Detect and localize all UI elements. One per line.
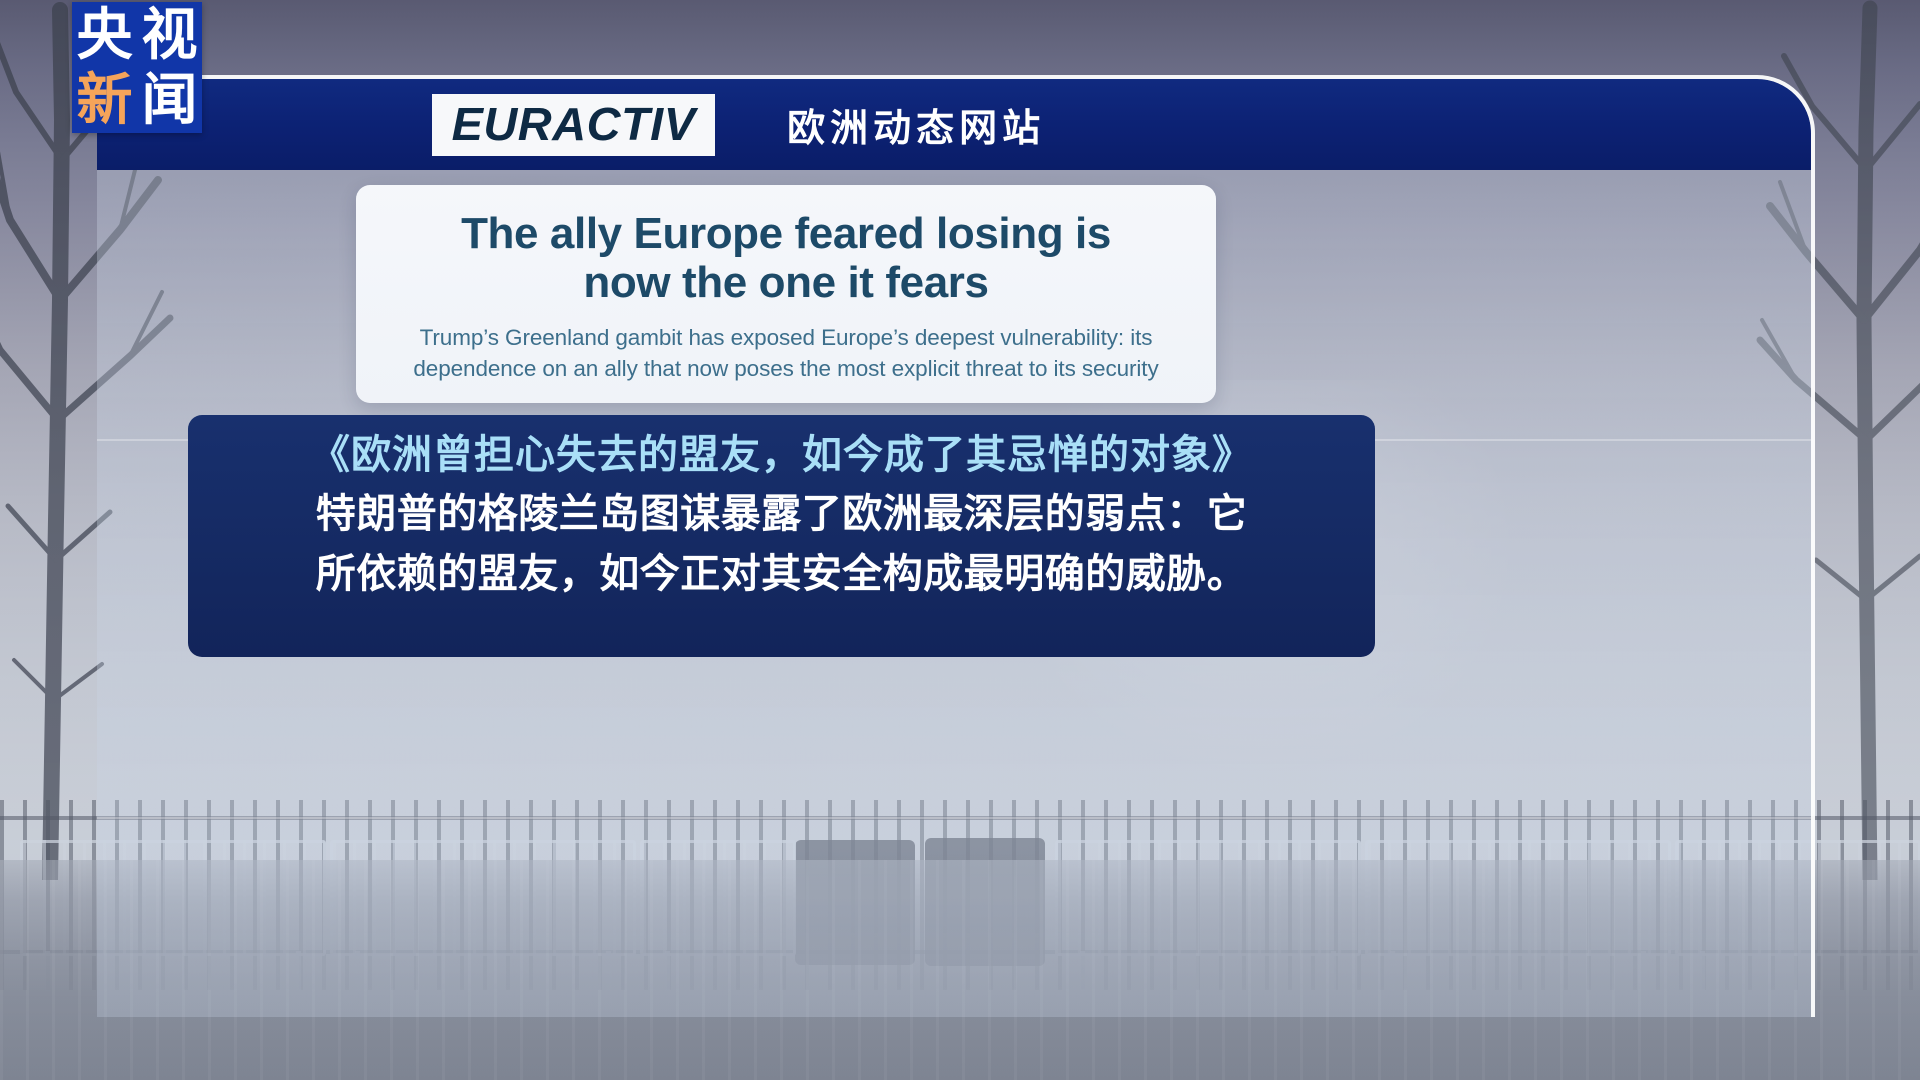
article-card-wrapper: The ally Europe feared losing is now the… [356,185,1216,403]
article-subtitle-line-1: Trump’s Greenland gambit has exposed Eur… [382,322,1190,354]
source-label-chinese: 欧洲动态网站 [787,97,1045,152]
translation-title: 《欧洲曾担心失去的盟友，如今成了其忌惮的对象》 [216,427,1347,484]
euractiv-logo-text: EURACTIV [452,101,696,147]
cctv-news-logo: 央 视 新 闻 [72,2,202,133]
article-headline-line-1: The ally Europe feared losing is [382,209,1190,258]
panel-header-bar: EURACTIV 欧洲动态网站 [97,79,1811,170]
screenshot-root: EURACTIV 欧洲动态网站 The ally Europe feared l… [0,0,1920,1080]
translation-body-line-2: 所依赖的盟友，如今正对其安全构成最明确的威胁。 [216,544,1347,604]
article-subtitle: Trump’s Greenland gambit has exposed Eur… [382,322,1190,386]
article-headline-line-2: now the one it fears [382,258,1190,307]
translation-card: 《欧洲曾担心失去的盟友，如今成了其忌惮的对象》 特朗普的格陵兰岛图谋暴露了欧洲最… [188,415,1375,657]
cctv-logo-char-xin: 新 [77,72,133,128]
panel-seam-lower [97,817,1811,819]
cctv-logo-char-shi: 视 [142,7,198,63]
content-panel: EURACTIV 欧洲动态网站 The ally Europe feared l… [97,75,1815,1017]
article-headline: The ally Europe feared losing is now the… [382,209,1190,308]
euractiv-logo: EURACTIV [432,94,715,156]
translation-body-line-1: 特朗普的格陵兰岛图谋暴露了欧洲最深层的弱点：它 [216,484,1347,544]
article-subtitle-line-2: dependence on an ally that now poses the… [382,353,1190,385]
cctv-logo-char-wen: 闻 [142,72,198,128]
cctv-logo-char-yang: 央 [77,7,133,63]
article-screenshot-card: The ally Europe feared losing is now the… [356,185,1216,403]
